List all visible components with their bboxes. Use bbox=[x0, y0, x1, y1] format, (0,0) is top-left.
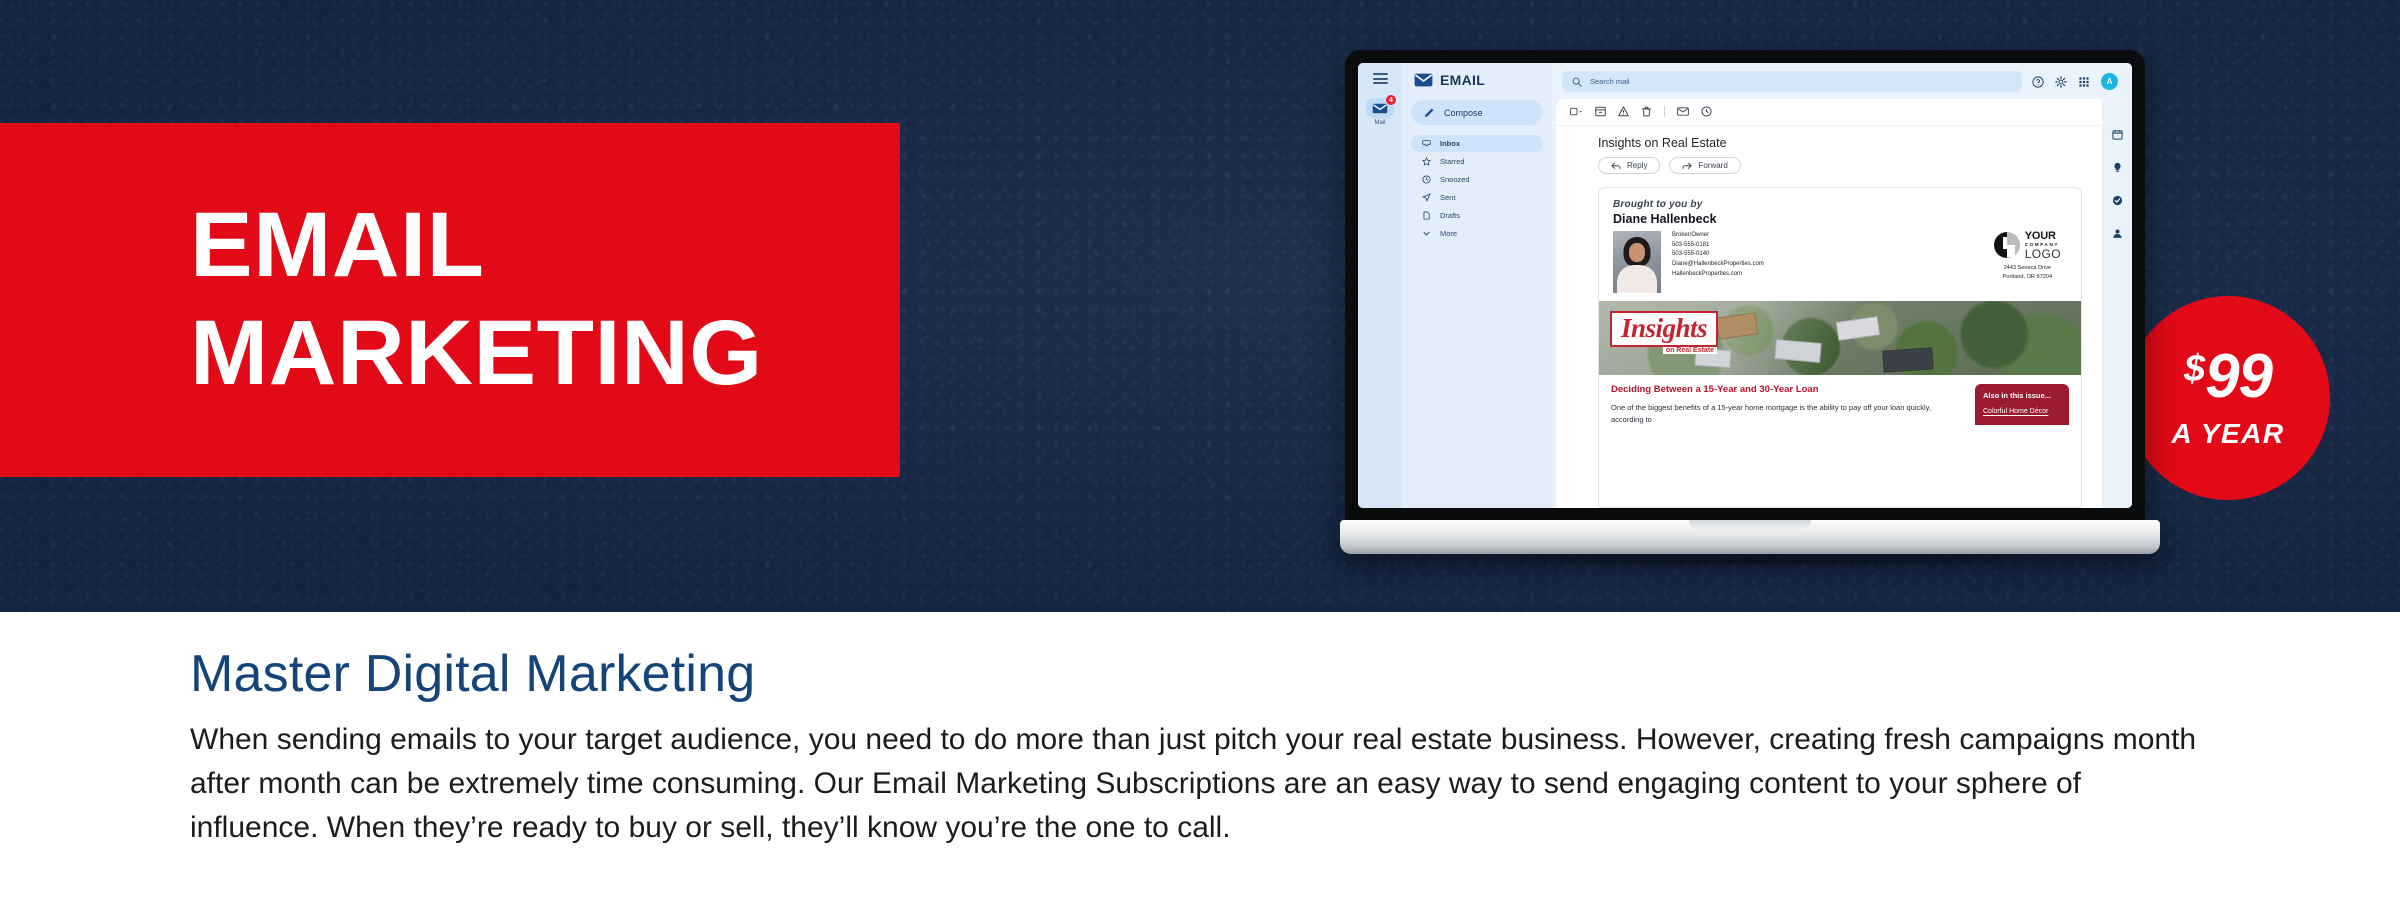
document-icon bbox=[1422, 211, 1431, 220]
app-nav-column: EMAIL Compose Inbox Starred bbox=[1402, 63, 1552, 508]
sidebar-item-snoozed[interactable]: Snoozed bbox=[1411, 171, 1543, 188]
reading-pane: Insights on Real Estate Reply Forward bbox=[1556, 99, 2102, 508]
company-address-line: Portland, OR 97204 bbox=[1994, 273, 2061, 282]
agent-photo bbox=[1613, 231, 1661, 293]
bottom-section: Master Digital Marketing When sending em… bbox=[0, 612, 2400, 900]
compose-label: Compose bbox=[1444, 108, 1483, 118]
page-title: Master Digital Marketing bbox=[190, 644, 2210, 704]
compose-button[interactable]: Compose bbox=[1411, 100, 1543, 125]
mark-unread-icon[interactable] bbox=[1677, 107, 1689, 116]
price-currency: $ bbox=[2184, 350, 2204, 388]
newsletter-agent-name: Diane Hallenbeck bbox=[1613, 212, 2067, 226]
newsletter-header: Brought to you by Diane Hallenbeck Broke… bbox=[1599, 188, 2081, 301]
newsletter-masthead-banner: Insights on Real Estate bbox=[1599, 301, 2081, 375]
hero-section: EMAIL MARKETING $ 99 A YEAR 4 Ma bbox=[0, 0, 2400, 612]
headline-line-1: EMAIL bbox=[190, 199, 914, 293]
sidebar-item-starred[interactable]: Starred bbox=[1411, 153, 1543, 170]
search-input[interactable]: Search mail bbox=[1562, 71, 2022, 92]
sidebar-item-inbox[interactable]: Inbox bbox=[1411, 135, 1543, 152]
select-checkbox-icon[interactable] bbox=[1570, 107, 1583, 117]
search-placeholder: Search mail bbox=[1590, 77, 1630, 86]
app-right-rail bbox=[2102, 99, 2132, 508]
company-address: 2443 Seneca Drive Portland, OR 97204 bbox=[1994, 264, 2061, 282]
forward-arrow-icon bbox=[1682, 162, 1692, 170]
apps-grid-icon[interactable] bbox=[2078, 76, 2090, 88]
clock-icon bbox=[1422, 175, 1431, 184]
app-left-rail: 4 Mail bbox=[1358, 63, 1402, 508]
message-subject: Insights on Real Estate bbox=[1556, 126, 2102, 150]
masthead-word: Insights bbox=[1621, 315, 1707, 342]
content-wrap: Insights on Real Estate Reply Forward bbox=[1552, 99, 2132, 508]
agent-contact-line: Broker/Owner bbox=[1672, 231, 1764, 241]
archive-icon[interactable] bbox=[1595, 106, 1606, 117]
sidebar-item-starred-label: Starred bbox=[1440, 157, 1465, 166]
rail-item-mail-label: Mail bbox=[1374, 120, 1385, 126]
article-text: One of the biggest benefits of a 15-year… bbox=[1611, 402, 1965, 425]
app-topbar: Search mail A bbox=[1552, 63, 2132, 99]
reply-button[interactable]: Reply bbox=[1598, 157, 1660, 174]
nav-list: Inbox Starred Snoozed Sent bbox=[1411, 135, 1543, 242]
message-actions: Reply Forward bbox=[1556, 150, 2102, 174]
laptop-lid: 4 Mail EMAIL Compose bbox=[1345, 50, 2145, 530]
agent-contact-line: 503-555-0140 bbox=[1672, 250, 1764, 260]
newsletter-article: Deciding Between a 15-Year and 30-Year L… bbox=[1611, 384, 1965, 425]
sidebar-item-more[interactable]: More bbox=[1411, 225, 1543, 242]
sidebar-item-sent-label: Sent bbox=[1440, 193, 1455, 202]
article-headline: Deciding Between a 15-Year and 30-Year L… bbox=[1611, 384, 1965, 396]
laptop-base bbox=[1340, 520, 2160, 554]
newsletter-card: Brought to you by Diane Hallenbeck Broke… bbox=[1598, 187, 2082, 508]
sidebar-link[interactable]: Colorful Home Décor bbox=[1983, 408, 2061, 415]
laptop-shadow bbox=[1400, 552, 2100, 568]
reply-label: Reply bbox=[1627, 161, 1647, 170]
agent-contact-line: HallenbeckProperties.com bbox=[1672, 270, 1764, 280]
company-logo-logo: LOGO bbox=[2025, 248, 2061, 260]
agent-contact-line: 503-555-0181 bbox=[1672, 241, 1764, 251]
price-term: A YEAR bbox=[2171, 418, 2284, 450]
rail-item-mail[interactable]: 4 Mail bbox=[1366, 98, 1394, 126]
price-amount: $ 99 bbox=[2184, 346, 2272, 408]
agent-contact-line: Diane@HallenbeckProperties.com bbox=[1672, 260, 1764, 270]
sidebar-item-snoozed-label: Snoozed bbox=[1440, 175, 1470, 184]
newsletter-agent-info: Broker/Owner 503-555-0181 503-555-0140 D… bbox=[1613, 231, 2067, 293]
hamburger-menu-icon[interactable] bbox=[1373, 73, 1388, 84]
inbox-icon bbox=[1422, 139, 1431, 148]
masthead-logo: Insights on Real Estate bbox=[1610, 311, 1718, 347]
company-logo-mark-icon bbox=[1994, 232, 2020, 258]
search-icon bbox=[1572, 77, 1582, 87]
message-toolbar bbox=[1556, 106, 2102, 126]
report-spam-icon[interactable] bbox=[1618, 106, 1629, 117]
body-paragraph: When sending emails to your target audie… bbox=[190, 718, 2210, 849]
topbar-icons: A bbox=[2032, 73, 2122, 90]
calendar-icon[interactable] bbox=[2112, 129, 2123, 140]
headline-block: EMAIL MARKETING bbox=[0, 123, 900, 477]
app-brand-name: EMAIL bbox=[1440, 72, 1485, 88]
contacts-icon[interactable] bbox=[2112, 228, 2123, 239]
headline-line-2: MARKETING bbox=[190, 307, 914, 401]
company-logo: YOUR COMPANY LOGO 2443 Seneca Drive bbox=[1994, 231, 2067, 281]
price-value: 99 bbox=[2205, 346, 2272, 408]
tasks-icon[interactable] bbox=[2112, 195, 2123, 206]
sidebar-item-drafts-label: Drafts bbox=[1440, 211, 1460, 220]
sidebar-item-drafts[interactable]: Drafts bbox=[1411, 207, 1543, 224]
forward-label: Forward bbox=[1698, 161, 1727, 170]
toolbar-divider bbox=[1664, 106, 1665, 117]
keep-notes-icon[interactable] bbox=[2112, 162, 2123, 173]
sidebar-item-more-label: More bbox=[1440, 229, 1457, 238]
star-icon bbox=[1422, 157, 1431, 166]
sidebar-title: Also in this issue... bbox=[1983, 391, 2061, 400]
laptop-mockup: 4 Mail EMAIL Compose bbox=[1340, 50, 2160, 580]
app-main-pane: Search mail A bbox=[1552, 63, 2132, 508]
company-address-line: 2443 Seneca Drive bbox=[1994, 264, 2061, 273]
chevron-down-icon bbox=[1422, 229, 1431, 238]
mail-unread-badge: 4 bbox=[1385, 94, 1397, 106]
sidebar-item-inbox-label: Inbox bbox=[1440, 139, 1460, 148]
newsletter-sidebar: Also in this issue... Colorful Home Déco… bbox=[1975, 384, 2069, 425]
pencil-icon bbox=[1424, 107, 1435, 118]
gear-icon[interactable] bbox=[2055, 76, 2067, 88]
newsletter-body: Deciding Between a 15-Year and 30-Year L… bbox=[1599, 375, 2081, 425]
laptop-screen: 4 Mail EMAIL Compose bbox=[1358, 63, 2132, 508]
masthead-subtitle: on Real Estate bbox=[1663, 347, 1717, 354]
newsletter-eyebrow: Brought to you by bbox=[1613, 199, 2067, 210]
agent-contact-block: Broker/Owner 503-555-0181 503-555-0140 D… bbox=[1672, 231, 1764, 280]
avatar[interactable]: A bbox=[2101, 73, 2118, 90]
envelope-logo-icon bbox=[1414, 73, 1433, 87]
company-logo-your: YOUR bbox=[2025, 231, 2061, 242]
app-brand: EMAIL bbox=[1411, 72, 1543, 88]
send-icon bbox=[1422, 193, 1431, 202]
reply-arrow-icon bbox=[1611, 162, 1621, 170]
sidebar-item-sent[interactable]: Sent bbox=[1411, 189, 1543, 206]
snooze-icon[interactable] bbox=[1701, 106, 1712, 117]
delete-icon[interactable] bbox=[1641, 106, 1652, 117]
forward-button[interactable]: Forward bbox=[1669, 157, 1740, 174]
help-icon[interactable] bbox=[2032, 76, 2044, 88]
